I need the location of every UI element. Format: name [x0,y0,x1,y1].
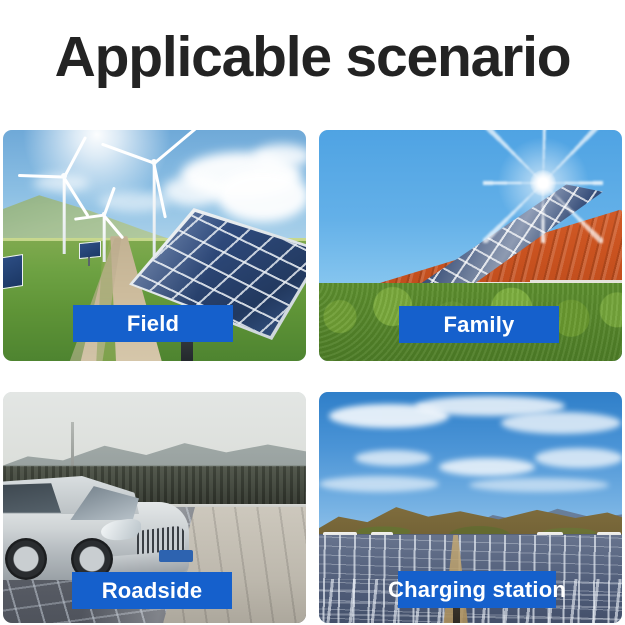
cloud-shape [535,448,622,468]
wind-turbine-icon [103,214,105,215]
small-solar-panel [79,241,101,259]
cloud-shape [253,144,306,168]
cloud-shape [469,478,609,492]
scenario-card-charging-station[interactable]: Charging station [319,392,622,623]
small-solar-panel [3,254,23,290]
scenario-label-charging-station[interactable]: Charging station [398,571,556,608]
cloud-shape [319,476,439,492]
scenario-label-family[interactable]: Family [399,306,559,343]
scenario-card-family[interactable]: Family [319,130,622,361]
sun-icon [530,170,556,196]
scenario-card-grid: Field Family [3,130,622,622]
cloud-shape [439,458,535,476]
scenario-card-field[interactable]: Field [3,130,306,361]
scenario-card-roadside[interactable]: Roadside [3,392,306,623]
license-plate [159,550,193,562]
wind-turbine-icon [63,176,65,177]
scenario-label-field[interactable]: Field [73,305,233,342]
car-side-window [3,482,61,514]
car-wheel [5,538,47,580]
small-solar-panel-post [88,257,90,266]
scenario-label-roadside[interactable]: Roadside [72,572,232,609]
cloud-shape [355,450,431,466]
cloud-shape [163,176,225,206]
cloud-shape [501,412,621,434]
cloud-shape [217,170,306,222]
wind-turbine-icon [153,162,155,163]
page-title: Applicable scenario [0,26,625,89]
